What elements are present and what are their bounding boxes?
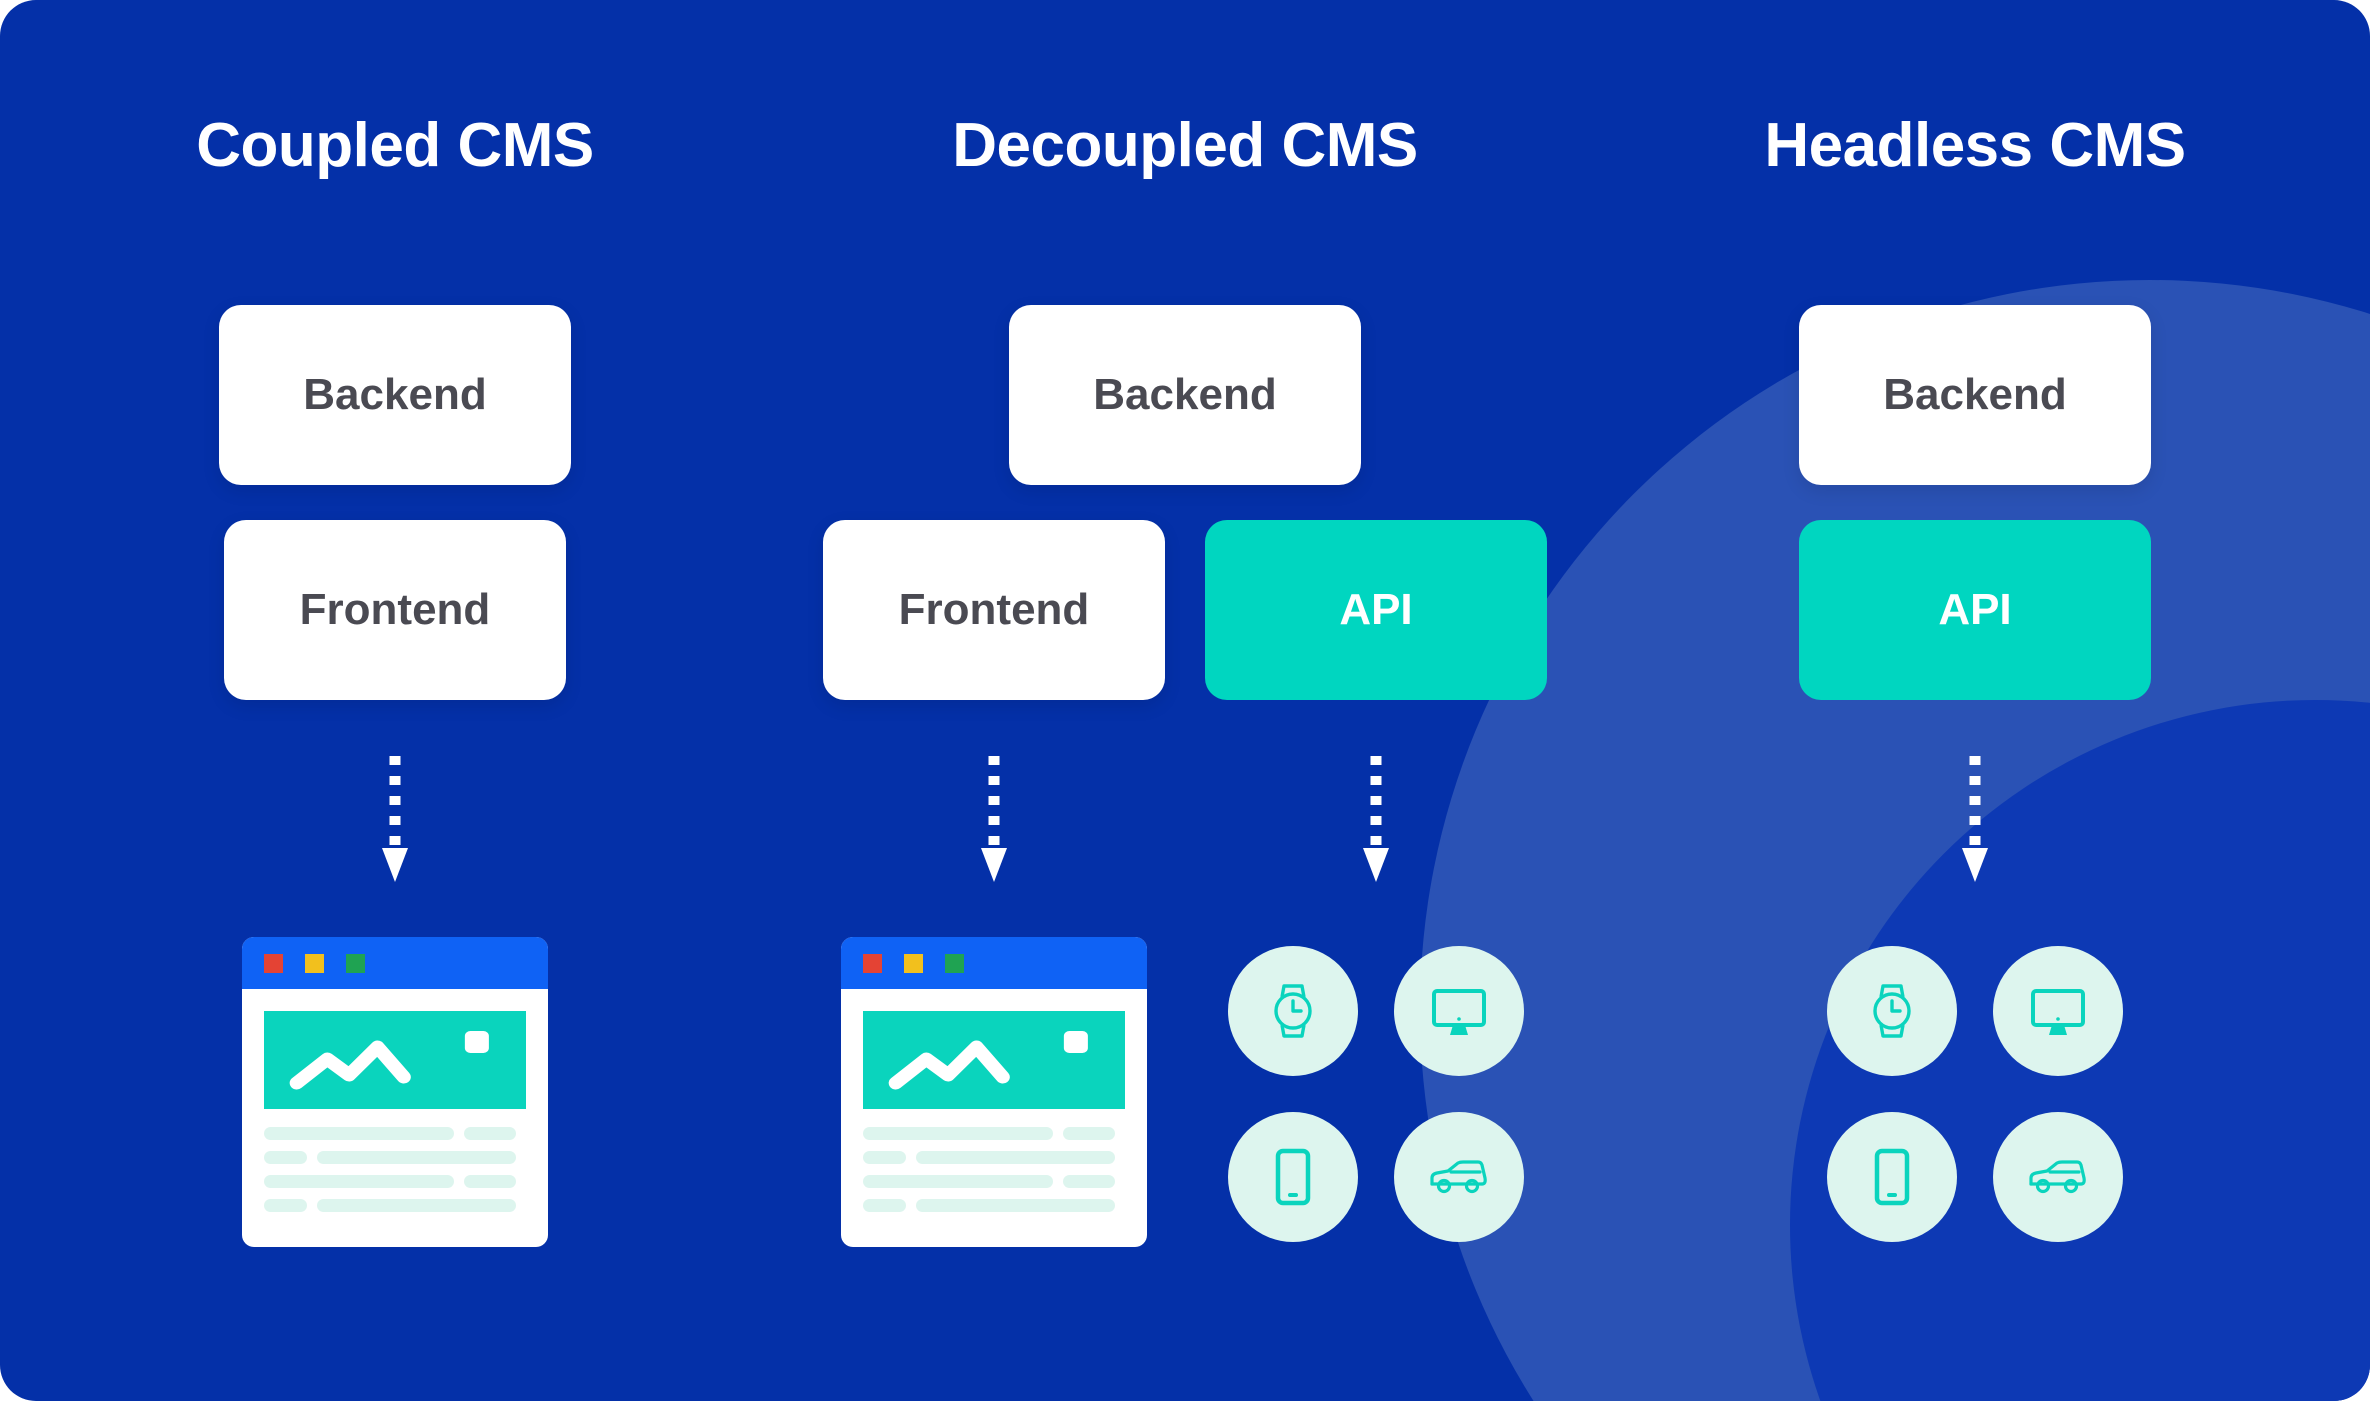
output-row-coupled xyxy=(224,937,566,1247)
column-title-coupled: Coupled CMS xyxy=(196,115,593,177)
arrow-slot xyxy=(1799,754,2151,899)
device-car[interactable] xyxy=(1394,1112,1524,1242)
arrow-slot xyxy=(224,754,566,899)
card-frontend-label: Frontend xyxy=(300,585,491,635)
desktop-monitor-icon xyxy=(1426,978,1492,1044)
card-api-label: API xyxy=(1938,585,2011,635)
card-row-api: API xyxy=(1799,520,2151,700)
device-car[interactable] xyxy=(1993,1112,2123,1242)
column-title-decoupled: Decoupled CMS xyxy=(952,115,1417,177)
card-frontend-label: Frontend xyxy=(899,585,1090,635)
device-desktop[interactable] xyxy=(1993,946,2123,1076)
card-backend-label: Backend xyxy=(1883,370,2066,420)
text-placeholder-lines xyxy=(264,1127,526,1212)
text-line xyxy=(863,1175,1125,1188)
card-api[interactable]: API xyxy=(1799,520,2151,700)
text-line xyxy=(863,1151,1125,1164)
text-line xyxy=(264,1199,526,1212)
desktop-monitor-icon xyxy=(2025,978,2091,1044)
image-placeholder-icon xyxy=(863,1011,1125,1109)
arrow-row-headless xyxy=(1799,754,2151,899)
arrow-row-coupled xyxy=(224,754,566,899)
card-backend[interactable]: Backend xyxy=(219,305,571,485)
text-placeholder-lines xyxy=(863,1127,1125,1212)
column-title-headless: Headless CMS xyxy=(1764,115,2185,177)
red-dot-icon xyxy=(863,954,882,973)
diagram-root: Coupled CMS Backend Frontend xyxy=(0,0,2370,1401)
device-smartwatch[interactable] xyxy=(1827,946,1957,1076)
card-frontend[interactable]: Frontend xyxy=(224,520,566,700)
car-icon xyxy=(2023,1142,2093,1212)
card-row-frontend-api: Frontend API xyxy=(823,520,1547,700)
car-icon xyxy=(1424,1142,1494,1212)
column-headless-body: Backend API xyxy=(1580,305,2370,1251)
columns-container: Coupled CMS Backend Frontend xyxy=(0,0,2370,1401)
column-decoupled-body: Backend Frontend API xyxy=(790,305,1580,1251)
column-coupled-body: Backend Frontend xyxy=(0,305,790,1247)
device-grid xyxy=(1818,937,2132,1251)
smartwatch-icon xyxy=(1260,978,1326,1044)
column-decoupled-cms: Decoupled CMS Backend Frontend API xyxy=(790,0,1580,1401)
green-dot-icon xyxy=(346,954,365,973)
red-dot-icon xyxy=(264,954,283,973)
browser-title-bar xyxy=(841,937,1147,989)
card-backend[interactable]: Backend xyxy=(1799,305,2151,485)
output-slot xyxy=(224,937,566,1247)
card-row-backend: Backend xyxy=(1009,305,1361,485)
card-row-backend: Backend xyxy=(1799,305,2151,485)
column-coupled-cms: Coupled CMS Backend Frontend xyxy=(0,0,790,1401)
arrow-slot xyxy=(1205,754,1547,899)
arrow-slot xyxy=(823,754,1165,899)
browser-mockup[interactable] xyxy=(841,937,1147,1247)
browser-content xyxy=(242,989,548,1247)
text-line xyxy=(264,1175,526,1188)
device-smartphone[interactable] xyxy=(1228,1112,1358,1242)
card-backend-label: Backend xyxy=(303,370,486,420)
text-line xyxy=(863,1199,1125,1212)
card-row-backend: Backend xyxy=(219,305,571,485)
smartwatch-icon xyxy=(1859,978,1925,1044)
card-frontend[interactable]: Frontend xyxy=(823,520,1165,700)
card-backend-label: Backend xyxy=(1093,370,1276,420)
image-placeholder-icon xyxy=(264,1011,526,1109)
card-api[interactable]: API xyxy=(1205,520,1547,700)
column-headless-cms: Headless CMS Backend API xyxy=(1580,0,2370,1401)
dotted-down-arrow-icon xyxy=(981,754,1007,899)
output-slot xyxy=(823,937,1165,1251)
green-dot-icon xyxy=(945,954,964,973)
device-smartphone[interactable] xyxy=(1827,1112,1957,1242)
device-smartwatch[interactable] xyxy=(1228,946,1358,1076)
output-slot xyxy=(1799,937,2151,1251)
card-backend[interactable]: Backend xyxy=(1009,305,1361,485)
device-grid xyxy=(1219,937,1533,1251)
text-line xyxy=(264,1127,526,1140)
device-desktop[interactable] xyxy=(1394,946,1524,1076)
smartphone-icon xyxy=(1859,1144,1925,1210)
dotted-down-arrow-icon xyxy=(382,754,408,899)
text-line xyxy=(264,1151,526,1164)
text-line xyxy=(863,1127,1125,1140)
yellow-dot-icon xyxy=(305,954,324,973)
output-row-decoupled xyxy=(823,937,1547,1251)
dotted-down-arrow-icon xyxy=(1962,754,1988,899)
output-slot xyxy=(1205,937,1547,1251)
card-api-label: API xyxy=(1339,585,1412,635)
card-row-frontend: Frontend xyxy=(224,520,566,700)
browser-mockup[interactable] xyxy=(242,937,548,1247)
browser-title-bar xyxy=(242,937,548,989)
smartphone-icon xyxy=(1260,1144,1326,1210)
output-row-headless xyxy=(1799,937,2151,1251)
yellow-dot-icon xyxy=(904,954,923,973)
diagram-canvas: Coupled CMS Backend Frontend xyxy=(0,0,2370,1401)
arrow-row-decoupled xyxy=(823,754,1547,899)
browser-content xyxy=(841,989,1147,1247)
dotted-down-arrow-icon xyxy=(1363,754,1389,899)
